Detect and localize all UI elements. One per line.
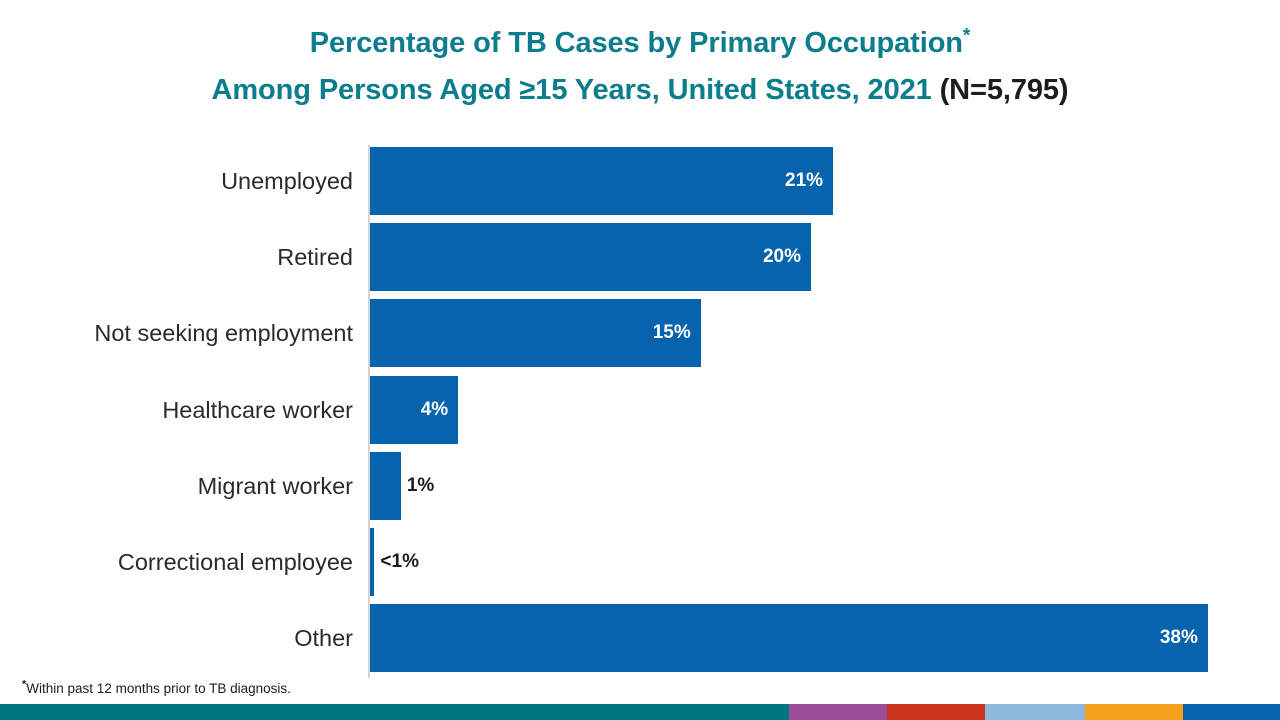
title-line-2: Among Persons Aged ≥15 Years, United Sta… [0,67,1280,114]
footnote-text: Within past 12 months prior to TB diagno… [26,681,291,696]
bar-row: Retired20% [0,223,1280,291]
bar-row: Other38% [0,604,1280,672]
strip-segment-red [887,704,985,720]
bar[interactable] [370,528,374,596]
title-line-1: Percentage of TB Cases by Primary Occupa… [0,20,1280,67]
page-title: Percentage of TB Cases by Primary Occupa… [0,20,1280,114]
bar-chart-plot-area: Unemployed21%Retired20%Not seeking emplo… [0,140,1280,680]
footnote: *Within past 12 months prior to TB diagn… [22,681,291,696]
bar-value-label: <1% [380,528,419,596]
title-asterisk: * [963,25,970,46]
category-label: Unemployed [221,147,353,215]
bar[interactable] [370,604,1208,672]
strip-segment-purple [789,704,887,720]
strip-segment-light-blue [985,704,1085,720]
bar-value-label: 38% [1160,604,1198,672]
category-label: Correctional employee [118,528,353,596]
strip-segment-teal [0,704,789,720]
bar-row: Migrant worker1% [0,452,1280,520]
bar-row: Correctional employee<1% [0,528,1280,596]
title-line-2-text: Among Persons Aged ≥15 Years, United Sta… [211,74,931,106]
bar-value-label: 15% [653,299,691,367]
bar-value-label: 21% [785,147,823,215]
bar-value-label: 4% [421,376,448,444]
bar[interactable] [370,147,833,215]
strip-segment-blue [1183,704,1280,720]
title-line-1-text: Percentage of TB Cases by Primary Occupa… [310,27,963,59]
category-label: Other [294,604,353,672]
category-label: Not seeking employment [94,299,353,367]
category-label: Healthcare worker [162,376,353,444]
bar-value-label: 1% [407,452,434,520]
strip-segment-orange [1085,704,1183,720]
bar[interactable] [370,452,401,520]
bar-row: Healthcare worker4% [0,376,1280,444]
bar[interactable] [370,223,811,291]
bar-row: Unemployed21% [0,147,1280,215]
bar[interactable] [370,299,701,367]
category-label: Retired [277,223,353,291]
bar-value-label: 20% [763,223,801,291]
bottom-color-strip [0,704,1280,720]
category-label: Migrant worker [198,452,353,520]
bar-row: Not seeking employment15% [0,299,1280,367]
title-sample-size: (N=5,795) [932,74,1069,106]
